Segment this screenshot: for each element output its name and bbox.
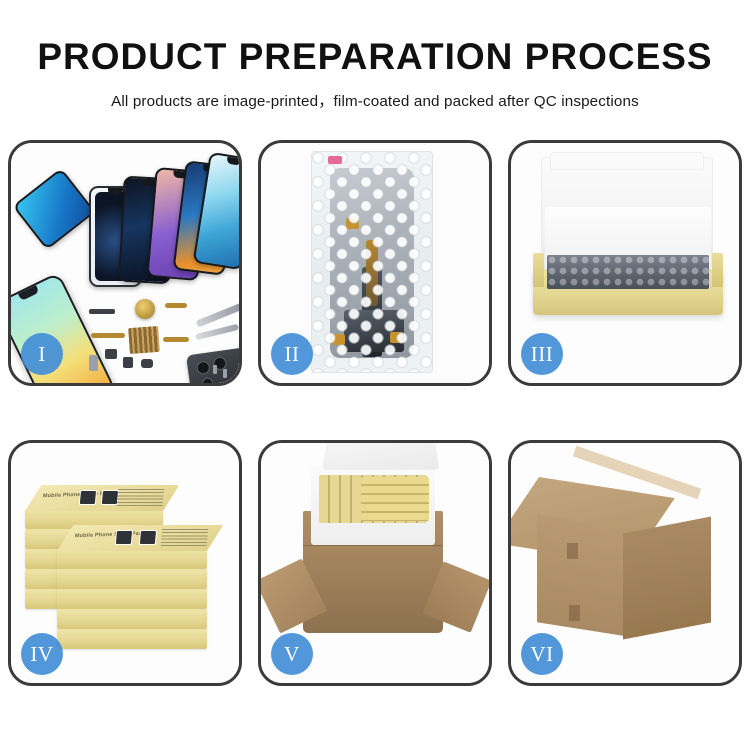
yellow-flat-box (533, 269, 723, 315)
part-flex-mid-icon (163, 337, 189, 342)
carton-face-left (537, 514, 623, 636)
tool-tweezers-icon (196, 302, 239, 328)
step-panel-4: Mobile Phone Spare Parts Mobile Phone Sp… (8, 440, 242, 686)
stacked-box (57, 609, 207, 629)
bubble-wrapped-contents (547, 255, 709, 289)
box-lid: Mobile Phone Spare Parts (57, 525, 223, 551)
step-image-5: V (261, 443, 489, 683)
part-camera-icon (141, 359, 153, 368)
step-badge-5: V (271, 633, 313, 675)
step-badge-1: I (21, 333, 63, 375)
part-screw-2-icon (223, 369, 227, 378)
page-subtitle: All products are image-printed，film-coat… (0, 89, 750, 111)
product-preparation-infographic: PRODUCT PREPARATION PROCESS All products… (0, 0, 750, 750)
carton-flap-left (261, 559, 327, 634)
step-image-3: III (511, 143, 739, 383)
header: PRODUCT PREPARATION PROCESS All products… (0, 0, 750, 111)
step-badge-3: III (521, 333, 563, 375)
part-flex-small-icon (165, 303, 187, 308)
box-lip-right (712, 253, 723, 287)
stacked-box (57, 589, 207, 609)
part-flex-cable-icon (91, 333, 125, 338)
step-badge-2: II (271, 333, 313, 375)
pink-label-icon (328, 156, 342, 164)
part-screw-icon (213, 365, 217, 374)
step-image-6: VI (511, 443, 739, 683)
box-lid: Mobile Phone Spare Parts (25, 485, 179, 511)
stacked-box (57, 569, 207, 589)
page-title: PRODUCT PREPARATION PROCESS (0, 36, 750, 78)
part-sim-tray-icon (123, 357, 133, 368)
phone-screen-blue (12, 168, 95, 250)
part-coil-icon (135, 299, 155, 319)
spare-parts-group (89, 293, 239, 383)
packed-boxes-row-right (361, 477, 429, 521)
part-button-icon (105, 349, 117, 359)
stacked-box (57, 629, 207, 649)
box-spec-lines (161, 529, 209, 546)
step-badge-6: VI (521, 633, 563, 675)
step-panel-6: VI (508, 440, 742, 686)
carton-tab-upper (567, 543, 578, 559)
step-badge-4: IV (21, 633, 63, 675)
stacked-box: Mobile Phone Spare Parts (57, 549, 207, 569)
box-lip-left (533, 253, 544, 287)
carton-face-right (623, 516, 711, 639)
step-panel-2: II (258, 140, 492, 386)
step-image-1: I (11, 143, 239, 383)
shipping-carton-open (303, 511, 443, 633)
step-panel-1: I (8, 140, 242, 386)
step-panel-5: V (258, 440, 492, 686)
box-spec-lines (117, 489, 165, 506)
step-image-2: II (261, 143, 489, 383)
box-window-left-icon (79, 490, 97, 505)
part-speaker-icon (89, 309, 115, 314)
part-chip-grid-icon (128, 326, 160, 354)
carton-flap-right (422, 561, 489, 632)
part-connector-icon (89, 355, 98, 371)
bubble-wrap-bag (311, 151, 433, 373)
step-image-4: Mobile Phone Spare Parts Mobile Phone Sp… (11, 443, 239, 683)
bubble-texture (312, 152, 432, 372)
foam-lid-open (322, 443, 440, 470)
box-window-right-icon (139, 530, 157, 545)
tool-screwdriver-icon (195, 324, 239, 340)
steps-grid: I II (8, 140, 742, 686)
step-panel-3: III (508, 140, 742, 386)
carton-tab-lower (569, 605, 580, 621)
box-window-left-icon (115, 530, 133, 545)
box-label: Mobile Phone Spare Parts (75, 531, 147, 539)
